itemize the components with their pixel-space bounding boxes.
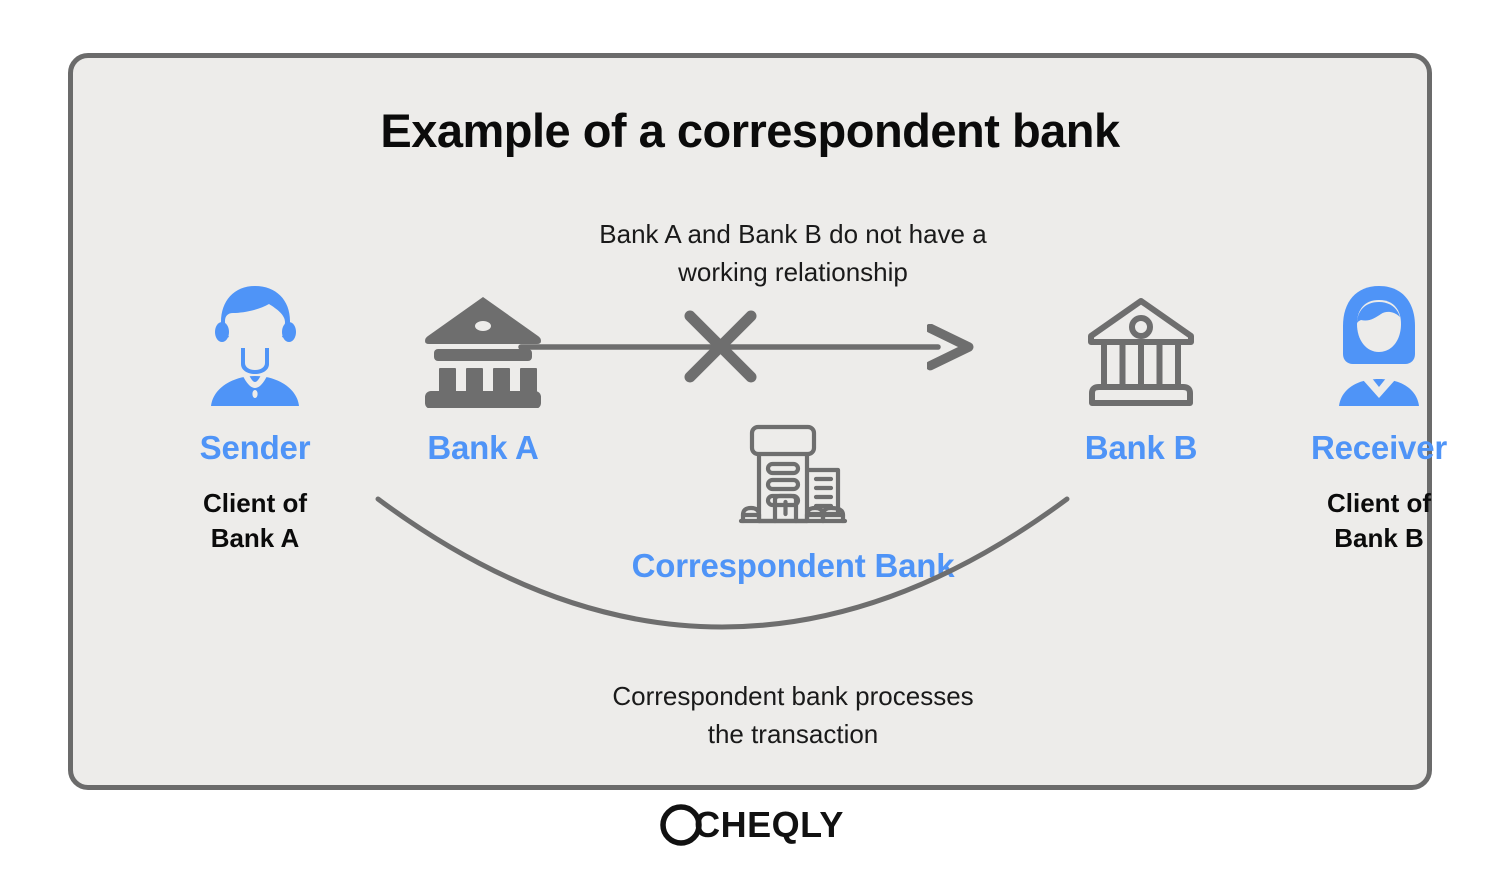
actor-receiver: Receiver Client of Bank B	[1289, 288, 1469, 556]
sender-label: Sender	[165, 430, 345, 466]
bank-office-building-icon	[737, 424, 849, 532]
correspondent-bank-icon-wrap	[543, 423, 1043, 533]
person-male-avatar-icon	[203, 284, 307, 408]
no-relationship-caption: Bank A and Bank B do not have a working …	[503, 216, 1083, 291]
bank-a-icon-wrap	[393, 288, 573, 408]
processes-transaction-caption: Correspondent bank processes the transac…	[503, 678, 1083, 753]
diagram-card: Example of a correspondent bank Bank A a…	[68, 53, 1432, 790]
person-female-avatar-icon	[1327, 284, 1431, 408]
bank-building-solid-icon	[425, 296, 541, 408]
receiver-sublabel: Client of Bank B	[1289, 486, 1469, 556]
brand-name: CHEQLY	[694, 804, 844, 846]
page-title: Example of a correspondent bank	[73, 103, 1427, 158]
bank-building-outline-icon	[1083, 296, 1199, 408]
correspondent-bank-label: Correspondent Bank	[543, 547, 1043, 585]
bank-b-label: Bank B	[1051, 430, 1231, 466]
actor-sender: Sender Client of Bank A	[165, 288, 345, 556]
brand-logo: CHEQLY	[0, 800, 1500, 850]
diagram-canvas: Example of a correspondent bank Bank A a…	[0, 0, 1500, 870]
sender-sublabel: Client of Bank A	[165, 486, 345, 556]
bank-b-icon-wrap	[1051, 288, 1231, 408]
actor-bank-b: Bank B	[1051, 288, 1231, 466]
actor-correspondent-bank: Correspondent Bank	[543, 423, 1043, 585]
receiver-icon-wrap	[1289, 288, 1469, 408]
receiver-label: Receiver	[1289, 430, 1469, 466]
sender-icon-wrap	[165, 288, 345, 408]
